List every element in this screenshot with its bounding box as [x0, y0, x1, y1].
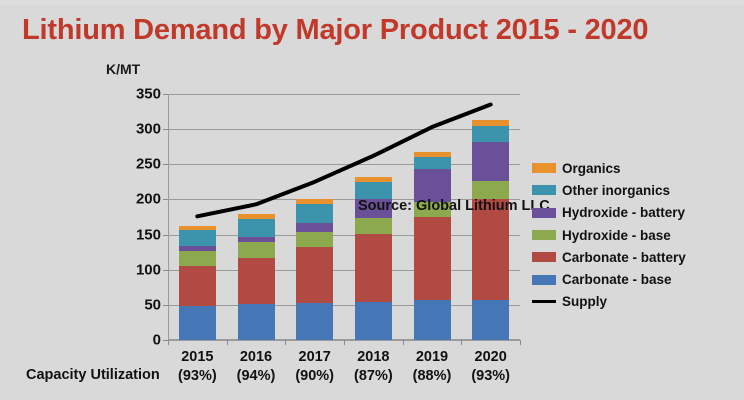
x-axis-utilization-label: (93%)	[462, 367, 520, 386]
bar-segment[interactable]	[355, 218, 392, 234]
bar-segment[interactable]	[179, 246, 216, 251]
bar-segment[interactable]	[414, 157, 451, 170]
gridline	[168, 164, 520, 165]
bar-segment[interactable]	[238, 258, 275, 304]
bar-stack[interactable]	[238, 94, 275, 340]
legend-item[interactable]: Hydroxide - battery	[532, 202, 732, 224]
legend-label: Organics	[562, 161, 621, 176]
legend-line-swatch-icon	[532, 300, 556, 303]
x-axis-group: 2019(88%)	[403, 348, 461, 386]
y-axis-line	[168, 94, 169, 340]
legend-item[interactable]: Carbonate - battery	[532, 246, 732, 268]
bar-segment[interactable]	[472, 126, 509, 142]
x-axis-year-label: 2017	[286, 348, 344, 367]
y-tick-mark	[163, 305, 168, 306]
x-axis-year-label: 2016	[227, 348, 285, 367]
legend-label: Carbonate - battery	[562, 250, 686, 265]
chart-container: Lithium Demand by Major Product 2015 - 2…	[0, 0, 744, 400]
bar-segment[interactable]	[296, 204, 333, 223]
bar-segment[interactable]	[355, 177, 392, 182]
legend-color-swatch-icon	[532, 230, 556, 240]
legend-item[interactable]: Supply	[532, 291, 732, 313]
gridline	[168, 94, 520, 95]
capacity-utilization-label: Capacity Utilization	[26, 367, 160, 383]
chart-legend: OrganicsOther inorganicsHydroxide - batt…	[532, 157, 732, 313]
x-axis-year-label: 2018	[344, 348, 402, 367]
bar-stack[interactable]	[414, 94, 451, 340]
x-tick-mark	[168, 340, 169, 345]
x-axis-year-label: 2020	[462, 348, 520, 367]
bar-segment[interactable]	[472, 181, 509, 199]
x-tick-mark	[227, 340, 228, 345]
y-tick-label: 350	[136, 86, 161, 103]
x-tick-mark	[344, 340, 345, 345]
source-annotation: Source: Global Lithium LLC	[358, 198, 550, 214]
legend-item[interactable]: Hydroxide - base	[532, 224, 732, 246]
chart-title: Lithium Demand by Major Product 2015 - 2…	[22, 14, 732, 47]
y-tick-label: 50	[144, 296, 161, 313]
bar-segment[interactable]	[414, 152, 451, 156]
bar-segment[interactable]	[238, 214, 275, 219]
bar-segment[interactable]	[179, 266, 216, 306]
legend-label: Carbonate - base	[562, 272, 672, 287]
bar-segment[interactable]	[414, 169, 451, 201]
x-tick-mark	[461, 340, 462, 345]
y-tick-label: 0	[153, 332, 161, 349]
legend-item[interactable]: Organics	[532, 157, 732, 179]
bar-segment[interactable]	[238, 237, 275, 243]
bar-segment[interactable]	[296, 303, 333, 340]
x-axis-utilization-label: (88%)	[403, 367, 461, 386]
y-tick-label: 250	[136, 156, 161, 173]
legend-label: Hydroxide - battery	[562, 205, 685, 220]
legend-color-swatch-icon	[532, 208, 556, 218]
y-tick-mark	[163, 235, 168, 236]
x-axis-year-label: 2015	[168, 348, 226, 367]
legend-item[interactable]: Other inorganics	[532, 179, 732, 201]
bar-stack[interactable]	[355, 94, 392, 340]
bar-segment[interactable]	[414, 300, 451, 340]
bar-segment[interactable]	[179, 226, 216, 230]
bar-segment[interactable]	[179, 251, 216, 266]
x-axis-utilization-label: (93%)	[168, 367, 226, 386]
bar-segment[interactable]	[296, 232, 333, 247]
x-axis-group: 2017(90%)	[286, 348, 344, 386]
gridline	[168, 305, 520, 306]
legend-color-swatch-icon	[532, 185, 556, 195]
legend-label: Hydroxide - base	[562, 228, 671, 243]
bar-segment[interactable]	[179, 306, 216, 340]
top-border-strip	[0, 0, 744, 5]
bar-segment[interactable]	[238, 304, 275, 340]
gridline	[168, 129, 520, 130]
x-tick-mark	[520, 340, 521, 345]
bar-segment[interactable]	[355, 302, 392, 340]
bar-segment[interactable]	[238, 219, 275, 237]
x-axis-utilization-label: (94%)	[227, 367, 285, 386]
x-axis-year-label: 2019	[403, 348, 461, 367]
y-tick-label: 100	[136, 261, 161, 278]
x-axis-utilization-label: (90%)	[286, 367, 344, 386]
gridline	[168, 270, 520, 271]
bar-segment[interactable]	[414, 217, 451, 300]
bar-stack[interactable]	[472, 94, 509, 340]
x-axis-group: 2015(93%)	[168, 348, 226, 386]
bar-segment[interactable]	[179, 230, 216, 245]
y-tick-mark	[163, 94, 168, 95]
bar-segment[interactable]	[296, 247, 333, 303]
x-axis-group: 2016(94%)	[227, 348, 285, 386]
legend-item[interactable]: Carbonate - base	[532, 268, 732, 290]
bar-segment[interactable]	[296, 199, 333, 204]
x-axis-labels: 2015(93%)2016(94%)2017(90%)2018(87%)2019…	[168, 348, 520, 394]
x-axis-group: 2018(87%)	[344, 348, 402, 386]
y-tick-label: 150	[136, 226, 161, 243]
bar-segment[interactable]	[472, 142, 509, 181]
gridline	[168, 235, 520, 236]
bar-stack[interactable]	[179, 94, 216, 340]
bar-stack[interactable]	[296, 94, 333, 340]
bar-segment[interactable]	[472, 120, 509, 126]
x-tick-mark	[403, 340, 404, 345]
y-tick-mark	[163, 270, 168, 271]
y-axis-unit-label: K/MT	[106, 61, 140, 77]
x-axis-group: 2020(93%)	[462, 348, 520, 386]
bar-segment[interactable]	[355, 234, 392, 302]
legend-label: Supply	[562, 294, 607, 309]
bar-segment[interactable]	[355, 182, 392, 200]
y-tick-mark	[163, 129, 168, 130]
x-axis-utilization-label: (87%)	[344, 367, 402, 386]
bar-segment[interactable]	[238, 242, 275, 257]
legend-color-swatch-icon	[532, 252, 556, 262]
legend-color-swatch-icon	[532, 163, 556, 173]
x-tick-mark	[285, 340, 286, 345]
y-tick-mark	[163, 164, 168, 165]
bar-segment[interactable]	[472, 300, 509, 340]
y-tick-mark	[163, 199, 168, 200]
bar-segment[interactable]	[296, 223, 333, 231]
y-tick-label: 200	[136, 191, 161, 208]
supply-line	[168, 94, 520, 340]
legend-label: Other inorganics	[562, 183, 670, 198]
y-tick-label: 300	[136, 121, 161, 138]
legend-color-swatch-icon	[532, 275, 556, 285]
plot-area: 050100150200250300350 Source: Global Lit…	[168, 94, 520, 340]
